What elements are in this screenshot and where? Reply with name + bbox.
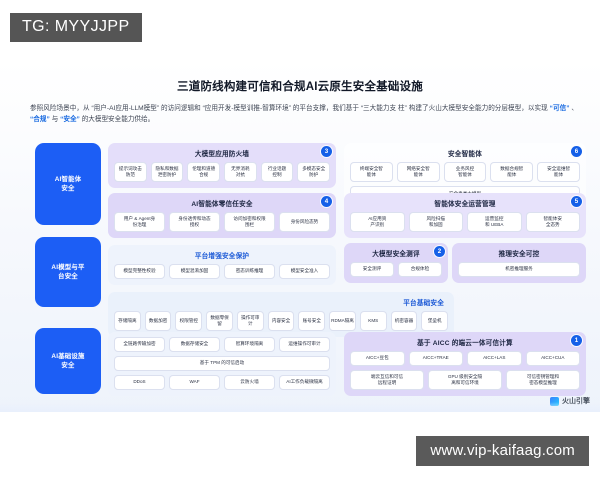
- panel-infrastructure-security: 全链路传输加密 数据存储安全 智算环境隔离 运维操作可审计 基于 TPM 的可信…: [108, 332, 336, 396]
- chip-row-aicc-2: 端云互信和可信远程证明 GPU 级别安全隔离和可信环境 可信密钥管理和密态模型推…: [350, 370, 580, 390]
- chip-item[interactable]: 隐私和数据泄密防护: [151, 162, 184, 182]
- badge-number-1: 1: [571, 335, 582, 346]
- slide-canvas: 三道防线构建可信和合规AI云原生安全基础设施 参照风险场景中，从 “用户-AI应…: [0, 60, 600, 412]
- badge-number-6: 6: [571, 146, 582, 157]
- chip-row-inference: 机密推理服务: [458, 262, 580, 277]
- chip-item[interactable]: 机密推理服务: [458, 262, 580, 277]
- screenshot-root: TG: MYYJJPP 三道防线构建可信和合规AI云原生安全基础设施 参照风险场…: [0, 0, 600, 480]
- badge-number-2: 2: [434, 246, 445, 257]
- chip-item[interactable]: 机密容器: [391, 311, 418, 331]
- chip-item[interactable]: RDMA隔离: [329, 311, 356, 331]
- panel-title-inference: 推理安全可控: [458, 248, 580, 258]
- highlight-trustworthy: “可信”: [550, 105, 570, 112]
- desc-separator-1: 、: [571, 105, 578, 112]
- description-line-2-post: 的大模型安全能力供给。: [82, 116, 155, 123]
- panel-title-security-operations: 智能体安全运营管理: [350, 198, 580, 208]
- chip-item[interactable]: 端云互信和可信远程证明: [350, 370, 424, 390]
- chip-item[interactable]: 风险扫描和加固: [409, 212, 464, 232]
- chip-item[interactable]: 数据合规智能体: [490, 162, 533, 182]
- chip-item[interactable]: 终端安全智能体: [350, 162, 393, 182]
- chip-item[interactable]: 运维操作可审计: [279, 337, 330, 352]
- brand-name: 火山引擎: [562, 396, 590, 406]
- chip-tpm-trusted-boot[interactable]: 基于 TPM 的可信启动: [114, 356, 330, 371]
- chip-item[interactable]: GPU 级别安全隔离和可信环境: [428, 370, 502, 390]
- telegram-watermark-badge: TG: MYYJJPP: [10, 13, 142, 42]
- chip-item[interactable]: 全链路传输加密: [114, 337, 165, 352]
- highlight-secure: “安全”: [60, 116, 80, 123]
- chip-item[interactable]: 伦理和道德合规: [187, 162, 220, 182]
- volcano-engine-logo-icon: [550, 397, 559, 406]
- chip-item[interactable]: 合规体检: [398, 262, 442, 277]
- panel-platform-enhanced-security: 平台增强安全保护 模型完整性校验 模型混淆加固 密态训练推理 模型安全准入: [108, 245, 336, 285]
- chip-item[interactable]: AICC+TRAE: [409, 351, 464, 366]
- chip-row-infra-tpm: 基于 TPM 的可信启动: [114, 356, 330, 371]
- chip-row-aicc-1: AICC+豆包 AICC+TRAE AICC+LAS AICC+CUA: [350, 351, 580, 366]
- chip-item[interactable]: 安全运维智能体: [537, 162, 580, 182]
- panel-agent-zero-trust: AI智能体零信任安全 用户 & Agent身份治理 身份透传和动态授权 访问加密…: [108, 193, 336, 238]
- chip-item[interactable]: AI应用资产识别: [350, 212, 405, 232]
- chip-item[interactable]: 模型安全准入: [279, 264, 330, 279]
- pillar-ai-agent-security[interactable]: AI智能体安全: [35, 143, 101, 225]
- chip-item[interactable]: 内容安全: [268, 311, 295, 331]
- chip-item[interactable]: 多模态安全防护: [297, 162, 330, 182]
- chip-item[interactable]: 模型混淆加固: [169, 264, 220, 279]
- panel-inference-security-control: 推理安全可控 机密推理服务: [452, 243, 586, 283]
- chip-item[interactable]: 操作可审计: [237, 311, 264, 331]
- panel-llm-security-evaluation: 大模型安全测评 安全测评 合规体检 2: [344, 243, 448, 283]
- chip-item[interactable]: 可信密钥管理和密态模型推理: [506, 370, 580, 390]
- panel-title-firewall: 大模型应用防火墙: [114, 148, 330, 158]
- chip-item[interactable]: 安全测评: [350, 262, 394, 277]
- chip-row-evaluation: 安全测评 合规体检: [350, 262, 442, 277]
- panel-aicc-trusted-computing: 基于 AICC 的端云一体可信计算 AICC+豆包 AICC+TRAE AICC…: [344, 332, 586, 396]
- chip-row-platform-enhanced: 模型完整性校验 模型混淆加固 密态训练推理 模型安全准入: [114, 264, 330, 279]
- pillar-ai-model-platform-security[interactable]: AI模型与平台安全: [35, 237, 101, 307]
- chip-item[interactable]: DDoS: [114, 375, 165, 390]
- panel-title-zero-trust: AI智能体零信任安全: [114, 198, 330, 208]
- chip-item[interactable]: 智能体安全态势: [526, 212, 581, 232]
- panel-title-platform-base: 平台基础安全: [114, 297, 448, 307]
- pillar-ai-infrastructure-security[interactable]: AI基础设施安全: [35, 328, 101, 394]
- chip-item[interactable]: AICC+LAS: [467, 351, 522, 366]
- chip-item[interactable]: 数据加密: [145, 311, 172, 331]
- desc-separator-2: 与: [52, 116, 59, 123]
- chip-item[interactable]: 权限管控: [175, 311, 202, 331]
- chip-item[interactable]: AICC+豆包: [350, 351, 405, 366]
- chip-row-security-operations: AI应用资产识别 风险扫描和加固 运营监控和 UEBA 智能体安全态势: [350, 212, 580, 232]
- chip-item[interactable]: 模型完整性校验: [114, 264, 165, 279]
- chip-row-firewall: 提示词攻击防范 隐私和数据泄密防护 伦理和道德合规 无界消耗对抗 行业话题控制 …: [114, 162, 330, 182]
- site-url-watermark: www.vip-kaifaag.com: [416, 436, 589, 466]
- panel-title-platform-enhanced: 平台增强安全保护: [114, 250, 330, 260]
- slide-description: 参照风险场景中，从 “用户-AI应用-LLM模型” 的访问逻辑和 “应用开发-模…: [30, 103, 578, 125]
- badge-number-3: 3: [321, 146, 332, 157]
- chip-item[interactable]: 数据存储安全: [169, 337, 220, 352]
- highlight-compliant: “合规”: [30, 116, 50, 123]
- chip-item[interactable]: 账号安全: [298, 311, 325, 331]
- chip-item[interactable]: 网络安全智能体: [397, 162, 440, 182]
- panel-agent-security-operations: 智能体安全运营管理 AI应用资产识别 风险扫描和加固 运营监控和 UEBA 智能…: [344, 193, 586, 238]
- chip-item[interactable]: 用户 & Agent身份治理: [114, 212, 165, 232]
- chip-item[interactable]: 行业话题控制: [261, 162, 294, 182]
- panel-title-evaluation: 大模型安全测评: [350, 248, 442, 258]
- chip-item[interactable]: 云防火墙: [224, 375, 275, 390]
- badge-number-4: 4: [321, 196, 332, 207]
- panel-llm-app-firewall: 大模型应用防火墙 提示词攻击防范 隐私和数据泄密防护 伦理和道德合规 无界消耗对…: [108, 143, 336, 188]
- chip-item[interactable]: 数据零保留: [206, 311, 233, 331]
- panel-platform-base-security: 平台基础安全 存储隔离 数据加密 权限管控 数据零保留 操作可审计 内容安全 账…: [108, 292, 454, 337]
- chip-item[interactable]: 业务风控智能体: [444, 162, 487, 182]
- chip-row-zero-trust: 用户 & Agent身份治理 身份透传和动态授权 访问加密和权限围栏 身份风险态…: [114, 212, 330, 232]
- chip-item[interactable]: 身份风险态势: [279, 212, 330, 232]
- chip-row-security-agent: 终端安全智能体 网络安全智能体 业务风控智能体 数据合规智能体 安全运维智能体: [350, 162, 580, 182]
- page-title: 三道防线构建可信和合规AI云原生安全基础设施: [0, 78, 600, 94]
- description-line-1: 参照风险场景中，从 “用户-AI应用-LLM模型” 的访问逻辑和 “应用开发-模…: [30, 105, 396, 112]
- chip-item[interactable]: 堡垒机: [421, 311, 448, 331]
- chip-row-infra-1: 全链路传输加密 数据存储安全 智算环境隔离 运维操作可审计: [114, 337, 330, 352]
- chip-item[interactable]: WAF: [169, 375, 220, 390]
- chip-row-infra-2: DDoS WAF 云防火墙 AI工作负载微隔离: [114, 375, 330, 390]
- chip-item[interactable]: AI工作负载微隔离: [279, 375, 330, 390]
- chip-item[interactable]: 存储隔离: [114, 311, 141, 331]
- chip-row-platform-base: 存储隔离 数据加密 权限管控 数据零保留 操作可审计 内容安全 账号安全 RDM…: [114, 311, 448, 331]
- chip-item[interactable]: 访问加密和权限围栏: [224, 212, 275, 232]
- chip-item[interactable]: 身份透传和动态授权: [169, 212, 220, 232]
- chip-item[interactable]: AICC+CUA: [526, 351, 581, 366]
- panel-title-aicc: 基于 AICC 的端云一体可信计算: [350, 337, 580, 347]
- chip-item[interactable]: 提示词攻击防范: [114, 162, 147, 182]
- chip-item[interactable]: 运营监控和 UEBA: [467, 212, 522, 232]
- chip-item[interactable]: 密态训练推理: [224, 264, 275, 279]
- chip-item[interactable]: 无界消耗对抗: [224, 162, 257, 182]
- badge-number-5: 5: [571, 196, 582, 207]
- chip-item[interactable]: 智算环境隔离: [224, 337, 275, 352]
- brand-logo: 火山引擎: [550, 396, 590, 406]
- description-line-2-pre: 柱” 构建了火山大模型安全能力的分层模型，以实现: [398, 105, 548, 112]
- chip-item[interactable]: KMS: [360, 311, 387, 331]
- panel-title-security-agent: 安全智能体: [350, 148, 580, 158]
